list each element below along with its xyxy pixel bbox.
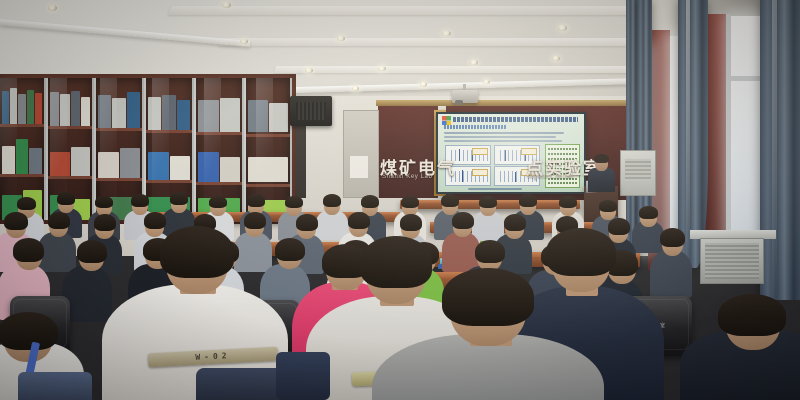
trousers (18, 372, 92, 400)
window-mullion (726, 14, 731, 244)
banner-english-right: lligent Control (528, 174, 574, 180)
downlight (442, 31, 451, 36)
radiator (700, 238, 764, 284)
lecture-hall-photo: 煤矿电气 Shanxi Key Lab 点实验室 lligent Control (0, 0, 800, 400)
wall-trim (376, 100, 634, 106)
downlight (552, 56, 560, 61)
downlight (352, 86, 359, 91)
trousers (196, 368, 288, 400)
air-conditioner (620, 150, 656, 196)
banner-english-left: Shanxi Key Lab (382, 174, 432, 180)
downlight (48, 5, 57, 11)
slide-subtitle (444, 125, 506, 129)
downlight (240, 39, 248, 44)
curtain[interactable] (760, 0, 800, 300)
ceiling-band (274, 66, 656, 73)
downlight (470, 60, 478, 65)
slide-logo-icon (442, 116, 451, 125)
door-notice (350, 156, 368, 178)
trousers (276, 352, 330, 400)
downlight (378, 66, 386, 71)
downlight (420, 82, 427, 87)
wall-speaker (290, 96, 332, 126)
downlight (305, 68, 313, 73)
projector-lens (455, 100, 463, 105)
downlight (558, 25, 567, 31)
ceiling-band (218, 38, 651, 46)
presenter-body (588, 168, 615, 192)
downlight (483, 80, 490, 84)
slide-title (453, 117, 578, 122)
presenter-hair (594, 154, 609, 163)
ceiling-band (168, 6, 642, 15)
curtain[interactable] (678, 0, 708, 268)
curtain-highlight (772, 0, 777, 300)
door[interactable] (343, 110, 379, 198)
curtain-highlight (686, 0, 690, 266)
downlight (222, 2, 231, 8)
downlight (337, 36, 345, 41)
